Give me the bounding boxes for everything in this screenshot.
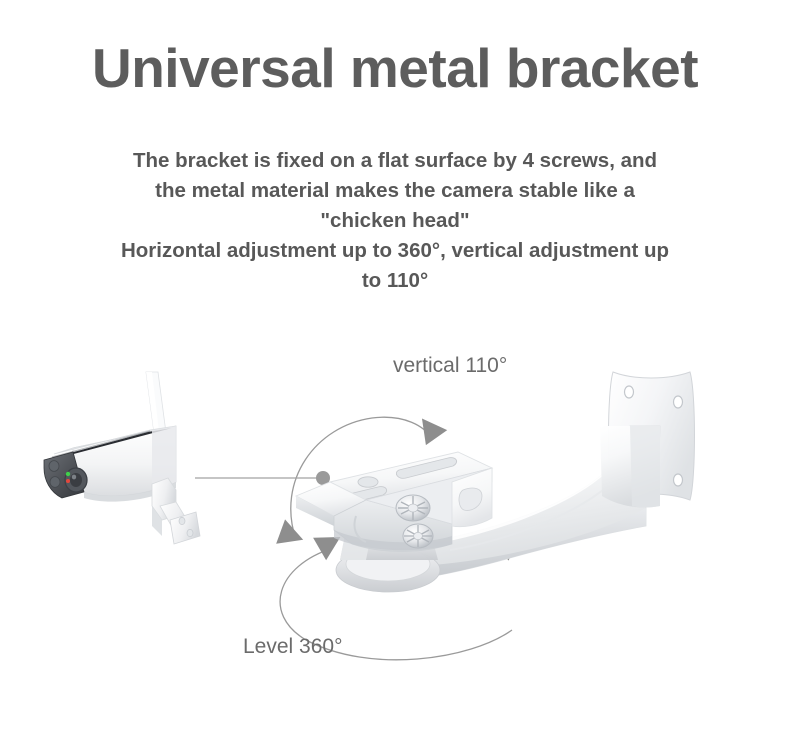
screw-lower xyxy=(403,524,433,548)
page-subtitle: The bracket is fixed on a flat surface b… xyxy=(45,146,745,296)
page-title: Universal metal bracket xyxy=(0,38,790,99)
annotation-label-vertical: vertical 110° xyxy=(393,354,507,378)
status-led-green xyxy=(66,472,70,476)
subtitle-line-2: the metal material makes the camera stab… xyxy=(45,176,745,206)
product-illustration: vertical 110° Level 360° xyxy=(0,330,790,734)
arrowhead-vertical-top xyxy=(412,411,447,446)
subtitle-line-3: "chicken head" xyxy=(45,206,745,236)
subtitle-line-5: to 110° xyxy=(45,266,745,296)
status-led-red xyxy=(66,479,70,483)
solar-wifi-bullet-camera xyxy=(44,372,200,544)
annotation-label-level: Level 360° xyxy=(243,635,342,659)
product-info-page: Universal metal bracket The bracket is f… xyxy=(0,0,790,734)
bracket-diagram-svg xyxy=(0,330,790,734)
subtitle-line-1: The bracket is fixed on a flat surface b… xyxy=(45,146,745,176)
screw-upper xyxy=(396,495,430,521)
callout-leader-line xyxy=(195,471,330,485)
ir-led-upper xyxy=(49,461,59,472)
subtitle-line-4: Horizontal adjustment up to 360°, vertic… xyxy=(45,236,745,266)
ir-led-lower xyxy=(50,477,60,488)
